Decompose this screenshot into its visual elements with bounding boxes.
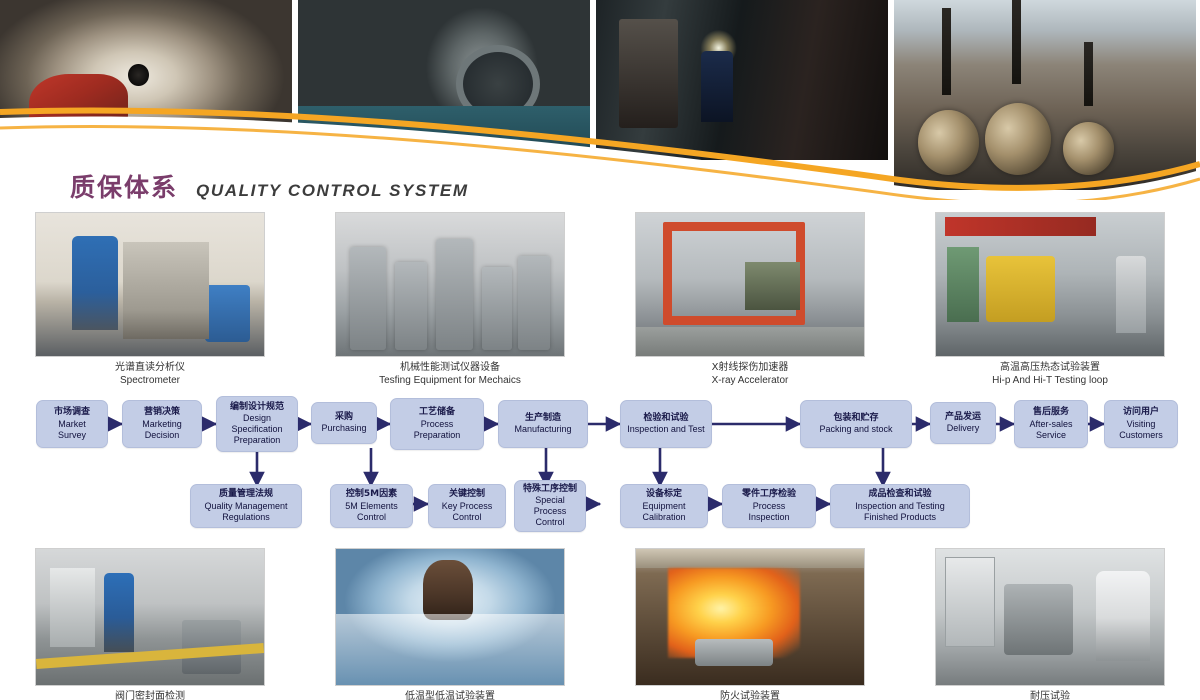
photo-cell-pressure-test: 耐压试验: [900, 548, 1200, 700]
node-label-en: Marketing Decision: [142, 419, 182, 441]
flow-node-packing-and-stock[interactable]: 包装和贮存 Packing and stock: [800, 400, 912, 448]
photo-high-temp-pressure-rig: [935, 212, 1165, 357]
flow-node-quality-management-regulations[interactable]: 质量管理法规 Quality Management Regulations: [190, 484, 302, 528]
caption-en: Hi-p And Hi-T Testing loop: [992, 375, 1108, 387]
node-label-cn: 关键控制: [449, 489, 485, 500]
node-label-en: Delivery: [947, 423, 980, 434]
caption-cn: 阀门密封面检测: [115, 691, 185, 700]
caption-cryogenic-test: 低温型低温试验装置: [405, 691, 495, 700]
node-label-cn: 生产制造: [525, 413, 561, 424]
photo-cryogenic-test-tank: [335, 548, 565, 686]
node-label-en: Purchasing: [321, 423, 366, 434]
quality-control-flowchart: 市场调查 Market Survey 营销决策 Marketing Decisi…: [0, 392, 1200, 544]
caption-cn: 光谱直读分析仪: [115, 362, 185, 374]
caption-en: Tesfing Equipment for Mechaics: [379, 375, 521, 387]
caption-xray-accelerator: X射线探伤加速器 X-ray Accelerator: [712, 362, 789, 386]
photo-pressure-test-station: [935, 548, 1165, 686]
node-label-cn: 零件工序检验: [742, 489, 796, 500]
caption-cn: 低温型低温试验装置: [405, 691, 495, 700]
flow-node-design-specification-preparation[interactable]: 编制设计规范 Design Specification Preparation: [216, 396, 298, 452]
photo-cell-valve-seat-inspection: 阀门密封面检测: [0, 548, 300, 700]
caption-fire-safe-test: 防火试验装置: [720, 691, 780, 700]
node-label-en: Equipment Calibration: [642, 501, 685, 523]
photo-cell-cryogenic-test: 低温型低温试验装置: [300, 548, 600, 700]
flow-node-inspection-and-test[interactable]: 检验和试验 Inspection and Test: [620, 400, 712, 448]
flow-node-purchasing[interactable]: 采购 Purchasing: [311, 402, 377, 444]
photo-spectrometer-lab: [35, 212, 265, 357]
banner-photo-large-rotor-machining: [0, 0, 292, 160]
node-label-en: Inspection and Testing Finished Products: [855, 501, 944, 523]
banner-photo-flanged-valve-body: [298, 0, 590, 160]
photo-valve-seat-inspection: [35, 548, 265, 686]
page-title-cn: 质保体系: [70, 168, 178, 204]
flow-node-marketing-decision[interactable]: 营销决策 Marketing Decision: [122, 400, 202, 448]
node-label-cn: 市场调查: [54, 407, 90, 418]
page-title-en: QUALITY CONTROL SYSTEM: [196, 181, 469, 201]
banner-photo-welding-operation: [596, 0, 888, 160]
node-label-en: Special Process Control: [534, 495, 567, 528]
flow-node-special-process-control[interactable]: 特殊工序控制 Special Process Control: [514, 480, 586, 532]
node-label-en: Design Specification Preparation: [231, 413, 282, 446]
node-label-cn: 营销决策: [144, 407, 180, 418]
quality-control-system-page: 质保体系 QUALITY CONTROL SYSTEM 光谱直读分析仪 Spec…: [0, 0, 1200, 700]
testing-photo-row: 阀门密封面检测 低温型低温试验装置 防火试验装置 耐压试验: [0, 548, 1200, 700]
node-label-cn: 检验和试验: [643, 413, 688, 424]
caption-cn: 机械性能测试仪器设备: [379, 362, 521, 374]
node-label-en: Visiting Customers: [1119, 419, 1163, 441]
caption-valve-seat-inspection: 阀门密封面检测: [115, 691, 185, 700]
node-label-en: Market Survey: [58, 419, 86, 441]
caption-cn: 防火试验装置: [720, 691, 780, 700]
node-label-en: Manufacturing: [514, 424, 571, 435]
flow-node-after-sales-service[interactable]: 售后服务 After-sales Service: [1014, 400, 1088, 448]
node-label-cn: 售后服务: [1033, 407, 1069, 418]
photo-fire-safe-test: [635, 548, 865, 686]
caption-en: X-ray Accelerator: [712, 375, 789, 387]
photo-cell-spectrometer: 光谱直读分析仪 Spectrometer: [0, 212, 300, 386]
node-label-cn: 设备标定: [646, 489, 682, 500]
node-label-en: Packing and stock: [819, 424, 892, 435]
flow-node-market-survey[interactable]: 市场调查 Market Survey: [36, 400, 108, 448]
flow-node-delivery[interactable]: 产品发运 Delivery: [930, 402, 996, 444]
node-label-en: Process Preparation: [414, 419, 461, 441]
node-label-cn: 成品检查和试验: [868, 489, 931, 500]
page-title: 质保体系 QUALITY CONTROL SYSTEM: [70, 168, 469, 204]
node-label-cn: 产品发运: [945, 412, 981, 423]
node-label-en: Key Process Control: [442, 501, 493, 523]
flow-node-key-process-control[interactable]: 关键控制 Key Process Control: [428, 484, 506, 528]
node-label-cn: 访问用户: [1123, 407, 1159, 418]
photo-cell-mechanical-test: 机械性能测试仪器设备 Tesfing Equipment for Mechaic…: [300, 212, 600, 386]
banner-photo-gate-valve-assembly-line: [894, 0, 1196, 190]
node-label-en: Inspection and Test: [627, 424, 704, 435]
flow-node-equipment-calibration[interactable]: 设备标定 Equipment Calibration: [620, 484, 708, 528]
caption-mechanical-test: 机械性能测试仪器设备 Tesfing Equipment for Mechaic…: [379, 362, 521, 386]
node-label-en: 5M Elements Control: [345, 501, 398, 523]
node-label-cn: 控制5M因素: [346, 489, 397, 500]
banner-photo-strip: [0, 0, 1200, 160]
node-label-cn: 包装和贮存: [833, 413, 878, 424]
caption-cn: 高温高压热态试验装置: [992, 362, 1108, 374]
caption-spectrometer: 光谱直读分析仪 Spectrometer: [115, 362, 185, 386]
caption-cn: 耐压试验: [1030, 691, 1070, 700]
flow-node-process-inspection[interactable]: 零件工序检验 Process Inspection: [722, 484, 816, 528]
node-label-cn: 编制设计规范: [230, 402, 284, 413]
flow-node-5m-elements-control[interactable]: 控制5M因素 5M Elements Control: [330, 484, 413, 528]
photo-cell-fire-safe-test: 防火试验装置: [600, 548, 900, 700]
caption-pressure-test: 耐压试验: [1030, 691, 1070, 700]
caption-en: Spectrometer: [115, 375, 185, 387]
photo-xray-accelerator-bay: [635, 212, 865, 357]
caption-hip-hit-loop: 高温高压热态试验装置 Hi-p And Hi-T Testing loop: [992, 362, 1108, 386]
photo-cell-xray-accelerator: X射线探伤加速器 X-ray Accelerator: [600, 212, 900, 386]
flow-node-inspection-testing-finished-products[interactable]: 成品检查和试验 Inspection and Testing Finished …: [830, 484, 970, 528]
flow-node-manufacturing[interactable]: 生产制造 Manufacturing: [498, 400, 588, 448]
node-label-cn: 特殊工序控制: [523, 484, 577, 495]
node-label-en: After-sales Service: [1029, 419, 1072, 441]
flow-node-visiting-customers[interactable]: 访问用户 Visiting Customers: [1104, 400, 1178, 448]
node-label-cn: 质量管理法规: [219, 489, 273, 500]
node-label-cn: 工艺储备: [419, 407, 455, 418]
caption-cn: X射线探伤加速器: [712, 362, 789, 374]
node-label-en: Quality Management Regulations: [204, 501, 287, 523]
equipment-photo-row: 光谱直读分析仪 Spectrometer 机械性能测试仪器设备 Tesfing …: [0, 212, 1200, 386]
node-label-cn: 采购: [335, 412, 353, 423]
photo-cell-hip-hit-loop: 高温高压热态试验装置 Hi-p And Hi-T Testing loop: [900, 212, 1200, 386]
node-label-en: Process Inspection: [748, 501, 789, 523]
photo-mechanical-test-lab: [335, 212, 565, 357]
flow-node-process-preparation[interactable]: 工艺储备 Process Preparation: [390, 398, 484, 450]
